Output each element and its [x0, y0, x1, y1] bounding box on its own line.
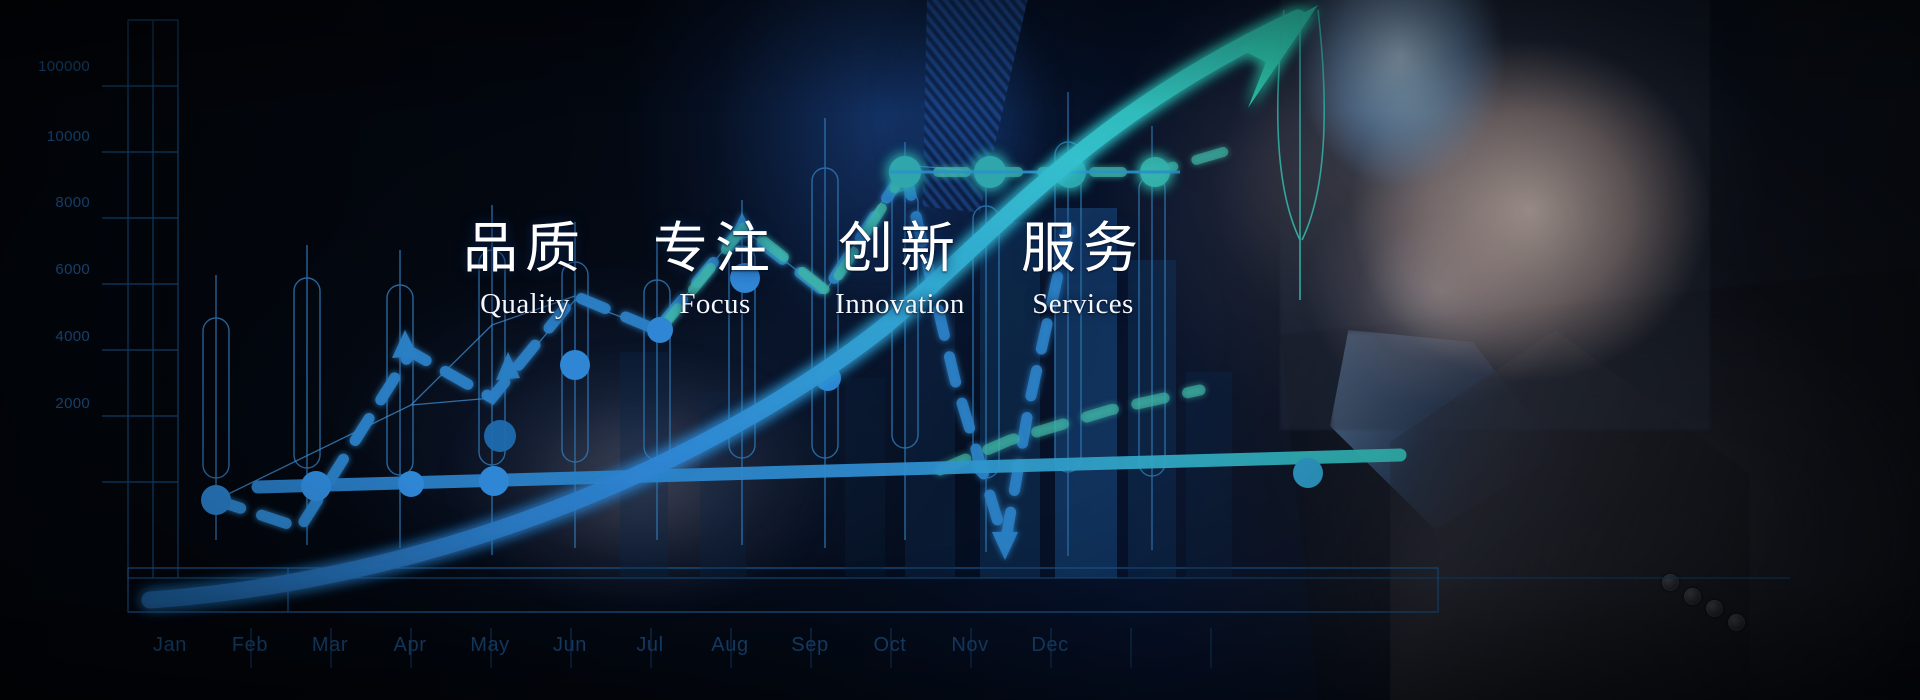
slogan-services-cn: 服务 — [988, 218, 1178, 278]
month-label-jun: Jun — [525, 634, 615, 657]
month-label-aug: Aug — [685, 634, 775, 657]
y-tick-label: 6000 — [0, 261, 90, 278]
slogan-focus-cn: 专注 — [620, 218, 810, 278]
hero-banner: 100000 10000 8000 6000 4000 2000 Jan Feb… — [0, 0, 1920, 700]
slogan-innovation-cn: 创新 — [805, 218, 995, 278]
month-label-mar: Mar — [285, 634, 375, 657]
slogan-services: 服务 Services — [988, 218, 1178, 321]
chart-overlay — [0, 0, 1920, 700]
slogan-focus-en: Focus — [620, 287, 810, 321]
month-label-jul: Jul — [605, 634, 695, 657]
y-tick-label: 8000 — [0, 194, 90, 211]
slogan-innovation-en: Innovation — [805, 287, 995, 321]
y-tick-label: 2000 — [0, 395, 90, 412]
slogan-quality-en: Quality — [430, 287, 620, 321]
y-tick-label: 10000 — [0, 128, 90, 145]
y-tick-label: 4000 — [0, 328, 90, 345]
month-label-feb: Feb — [205, 634, 295, 657]
month-label-dec: Dec — [1005, 634, 1095, 657]
slogan-quality-cn: 品质 — [430, 218, 620, 278]
slogan-focus: 专注 Focus — [620, 218, 810, 321]
slogan-services-en: Services — [988, 287, 1178, 321]
y-tick-label: 100000 — [0, 58, 90, 75]
month-label-apr: Apr — [365, 634, 455, 657]
month-label-nov: Nov — [925, 634, 1015, 657]
month-label-jan: Jan — [125, 634, 215, 657]
slogan-quality: 品质 Quality — [430, 218, 620, 321]
month-label-may: May — [445, 634, 535, 657]
month-label-sep: Sep — [765, 634, 855, 657]
slogan-innovation: 创新 Innovation — [805, 218, 995, 321]
month-label-oct: Oct — [845, 634, 935, 657]
